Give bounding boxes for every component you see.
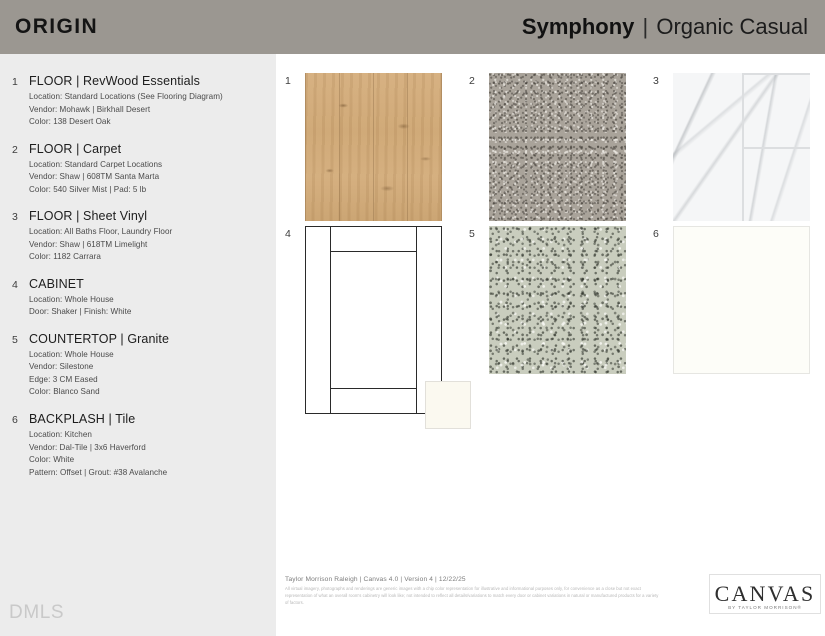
swatch-grid: 1 2 3 4 5: [285, 73, 825, 414]
spec-color: Color: White: [29, 454, 266, 467]
spec-vendor: Vendor: Dal-Tile | 3x6 Haverford: [29, 442, 266, 455]
cabinet-stile-right: [416, 227, 417, 413]
page-footer: Taylor Morrison Raleigh | Canvas 4.0 | V…: [285, 574, 825, 622]
page-title: Symphony | Organic Casual: [522, 14, 808, 40]
footer-meta: Taylor Morrison Raleigh | Canvas 4.0 | V…: [285, 576, 660, 583]
spec-number: 2: [12, 142, 29, 197]
spec-color: Color: 540 Silver Mist | Pad: 5 lb: [29, 184, 266, 197]
grout-line-horizontal: [742, 147, 811, 149]
spec-location: Location: Whole House: [29, 294, 266, 307]
swatch-number: 5: [469, 226, 489, 414]
brand-logo: ORIGIN: [15, 15, 98, 39]
spec-title: BACKPLASH | Tile: [29, 412, 266, 426]
swatch-shaker-cabinet-door[interactable]: [305, 226, 442, 414]
spec-location: Location: Kitchen: [29, 429, 266, 442]
swatch-granite-slab[interactable]: [489, 226, 626, 374]
page-header: ORIGIN Symphony | Organic Casual: [0, 0, 825, 54]
swatch-number: 4: [285, 226, 305, 414]
spec-vendor: Vendor: Shaw | 608TM Santa Marta: [29, 171, 266, 184]
canvas-logo-subtitle: BY TAYLOR MORRISON®: [728, 605, 802, 610]
spec-number: 5: [12, 332, 29, 399]
swatch-cell-2: 2: [469, 73, 653, 221]
cabinet-stile-left: [330, 227, 331, 413]
swatch-cell-1: 1: [285, 73, 469, 221]
swatch-panel: 1 2 3 4 5: [276, 54, 825, 636]
spec-item-backsplash-tile: 6 BACKPLASH | Tile Location: Kitchen Ven…: [12, 412, 266, 479]
spec-color: Color: 138 Desert Oak: [29, 116, 266, 129]
spec-pattern-grout: Pattern: Offset | Grout: #38 Avalanche: [29, 467, 266, 480]
spec-item-cabinet: 4 CABINET Location: Whole House Door: Sh…: [12, 277, 266, 319]
spec-edge: Edge: 3 CM Eased: [29, 374, 266, 387]
spec-location: Location: Standard Carpet Locations: [29, 159, 266, 172]
footer-disclaimer: All virtual imagery, photographs and ren…: [285, 585, 660, 607]
specifications-sidebar: 1 FLOOR | RevWood Essentials Location: S…: [0, 54, 276, 636]
spec-vendor: Vendor: Silestone: [29, 361, 266, 374]
spec-vendor: Vendor: Shaw | 618TM Limelight: [29, 239, 266, 252]
spec-title: CABINET: [29, 277, 266, 291]
spec-item-floor-carpet: 2 FLOOR | Carpet Location: Standard Carp…: [12, 142, 266, 197]
grout-line-top: [742, 73, 811, 75]
swatch-white-subway-tile[interactable]: [673, 226, 810, 374]
canvas-logo: CANVAS BY TAYLOR MORRISON®: [709, 574, 821, 614]
cabinet-rail-top: [330, 251, 417, 252]
cabinet-rail-bottom: [330, 388, 417, 389]
swatch-cell-3: 3: [653, 73, 825, 221]
spec-title: FLOOR | Carpet: [29, 142, 266, 156]
swatch-number: 1: [285, 73, 305, 221]
spec-number: 6: [12, 412, 29, 479]
dmls-watermark: DMLS: [9, 602, 64, 624]
spec-door-finish: Door: Shaker | Finish: White: [29, 306, 266, 319]
swatch-number: 6: [653, 226, 673, 414]
title-separator: |: [641, 14, 651, 39]
spec-vendor: Vendor: Mohawk | Birkhall Desert: [29, 104, 266, 117]
spec-location: Location: Whole House: [29, 349, 266, 362]
plan-name: Symphony: [522, 14, 634, 39]
spec-color: Color: 1182 Carrara: [29, 251, 266, 264]
swatch-number: 3: [653, 73, 673, 221]
swatch-gray-carpet[interactable]: [489, 73, 626, 221]
spec-number: 1: [12, 74, 29, 129]
spec-item-floor-revwood: 1 FLOOR | RevWood Essentials Location: S…: [12, 74, 266, 129]
swatch-wood-plank-flooring[interactable]: [305, 73, 442, 221]
spec-item-floor-sheet-vinyl: 3 FLOOR | Sheet Vinyl Location: All Bath…: [12, 209, 266, 264]
spec-title: FLOOR | RevWood Essentials: [29, 74, 266, 88]
footer-text-block: Taylor Morrison Raleigh | Canvas 4.0 | V…: [285, 574, 660, 607]
swatch-number: 2: [469, 73, 489, 221]
swatch-cell-5: 5: [469, 226, 653, 414]
swatch-cell-4: 4: [285, 226, 469, 414]
spec-title: FLOOR | Sheet Vinyl: [29, 209, 266, 223]
spec-number: 4: [12, 277, 29, 319]
cabinet-color-chip: [425, 381, 471, 429]
spec-item-countertop-granite: 5 COUNTERTOP | Granite Location: Whole H…: [12, 332, 266, 399]
spec-number: 3: [12, 209, 29, 264]
spec-title: COUNTERTOP | Granite: [29, 332, 266, 346]
spec-location: Location: All Baths Floor, Laundry Floor: [29, 226, 266, 239]
swatch-carrara-marble-tile[interactable]: [673, 73, 810, 221]
spec-location: Location: Standard Locations (See Floori…: [29, 91, 266, 104]
plan-style: Organic Casual: [656, 14, 808, 39]
swatch-cell-6: 6: [653, 226, 825, 414]
canvas-logo-word: CANVAS: [715, 581, 816, 607]
spec-color: Color: Blanco Sand: [29, 386, 266, 399]
